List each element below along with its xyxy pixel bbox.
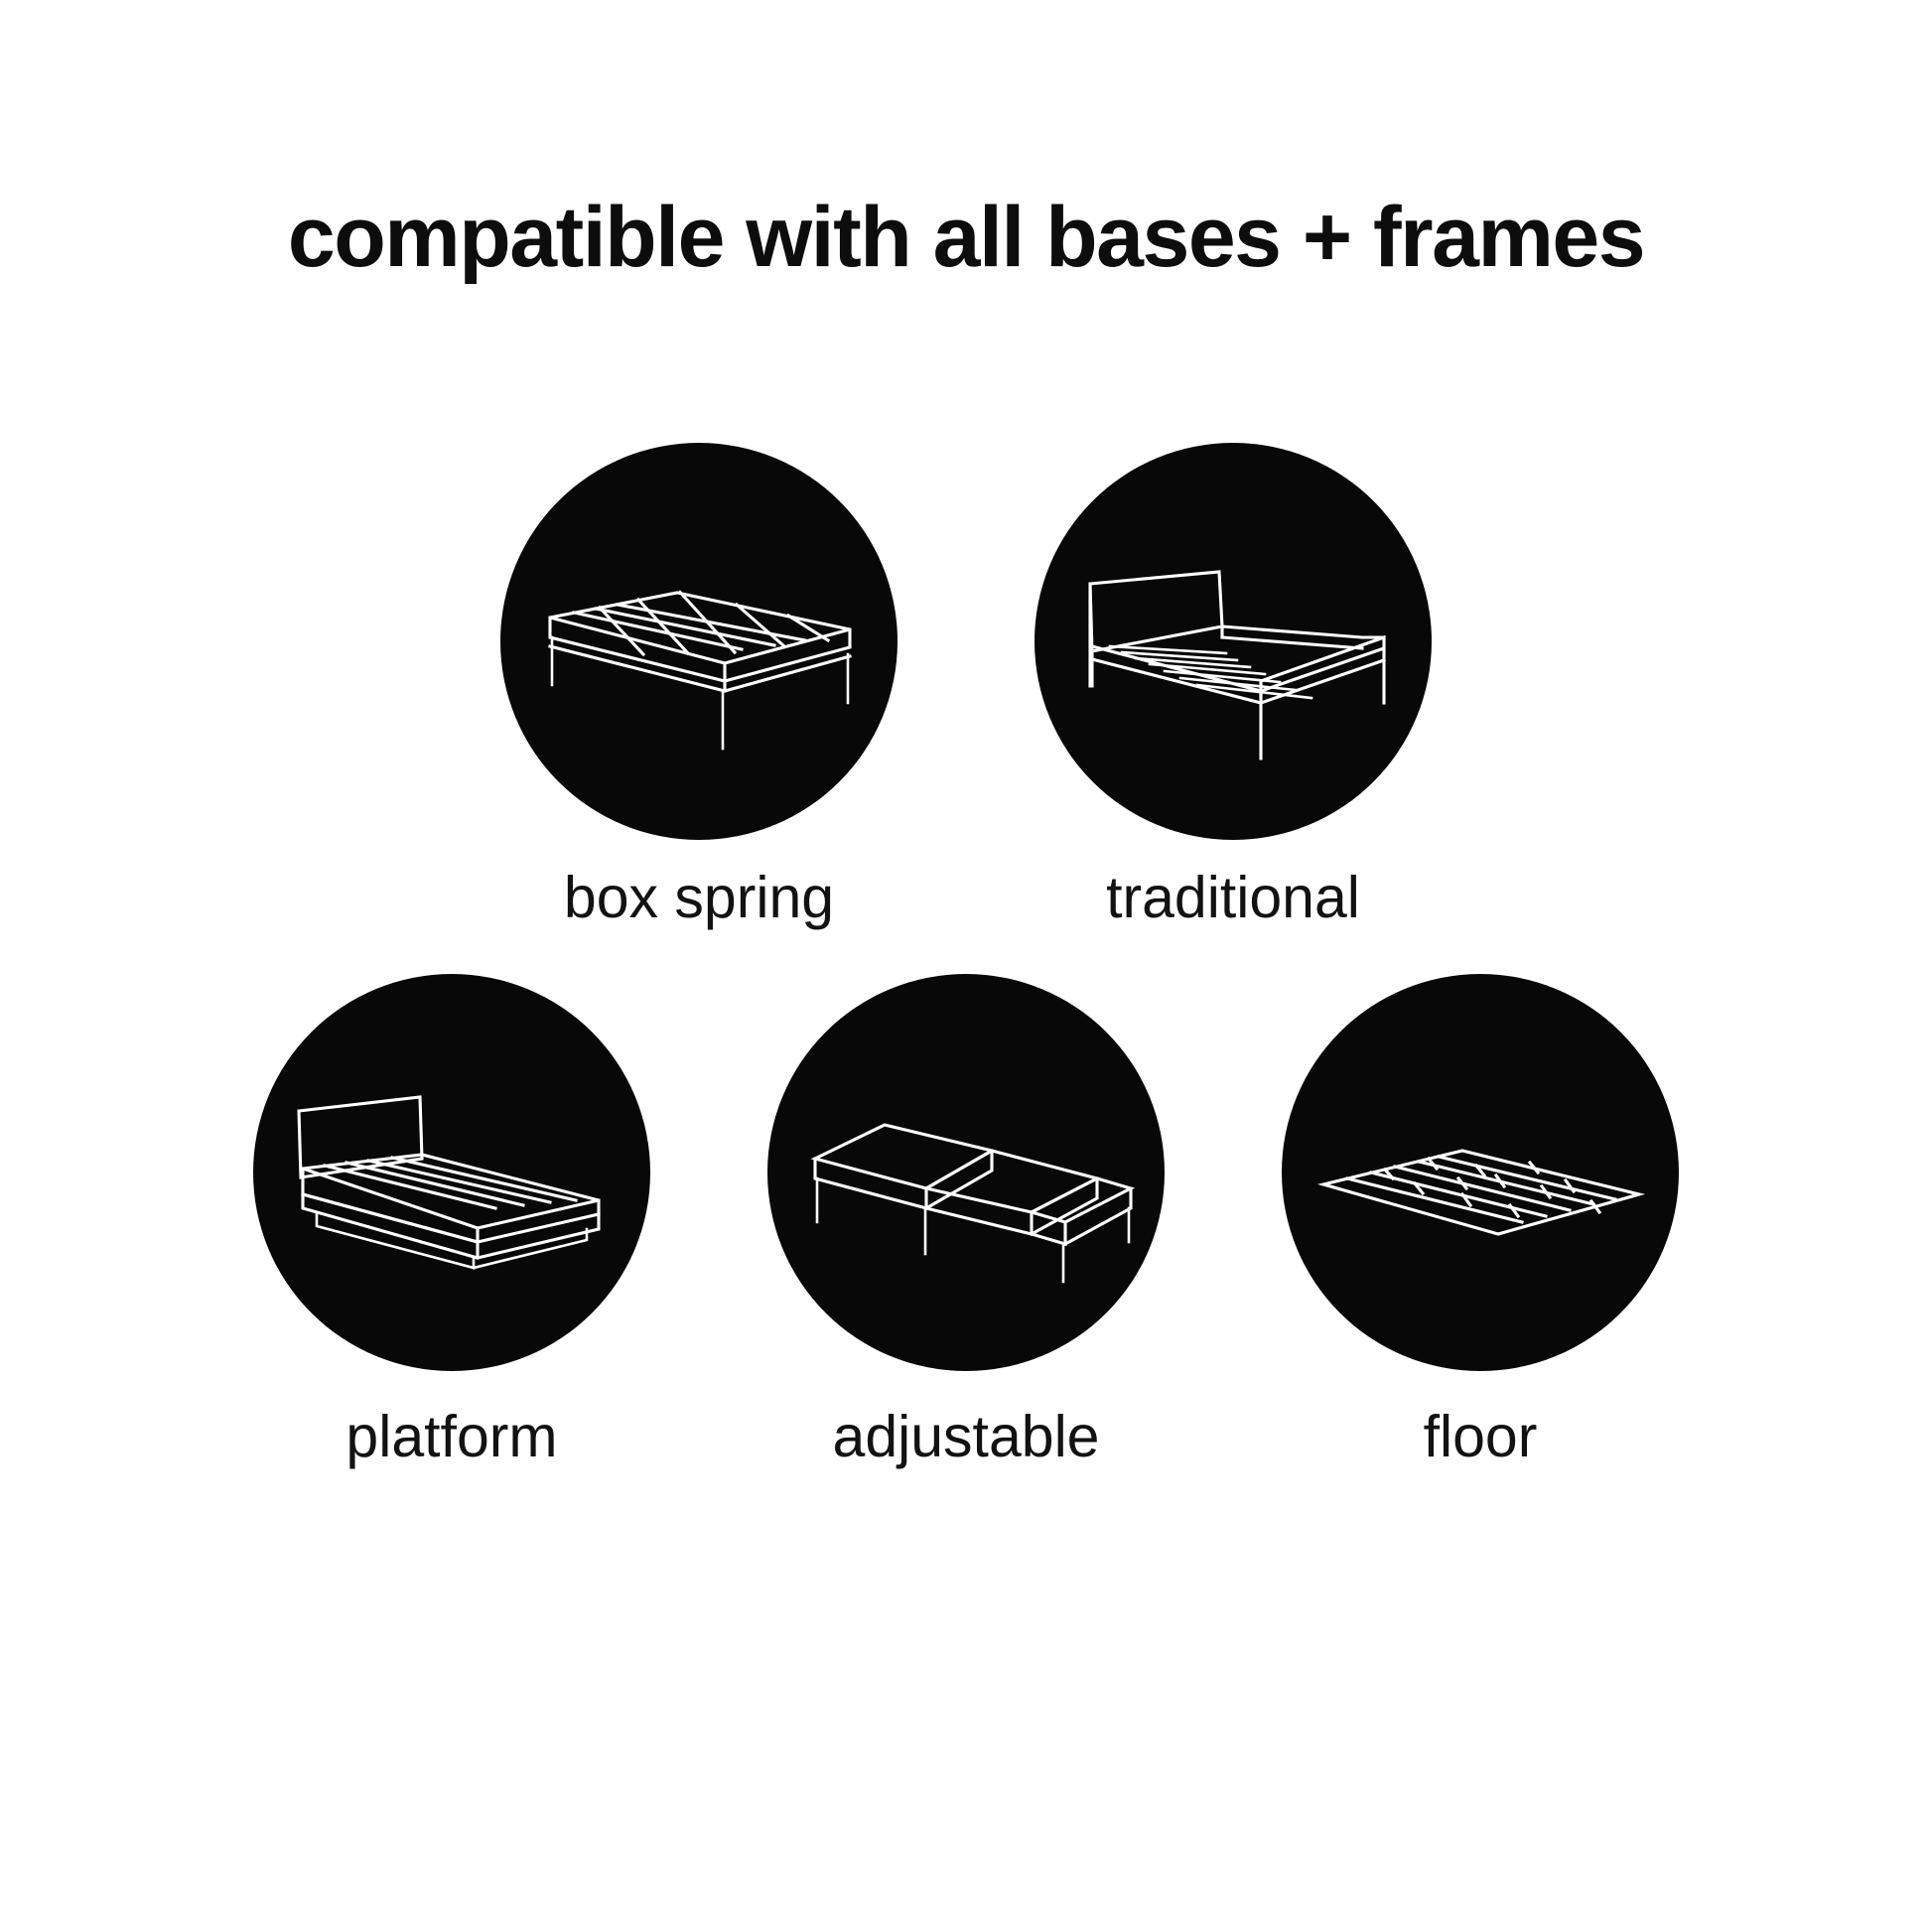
box-spring-base-icon <box>500 443 897 840</box>
compatibility-infographic: compatible with all bases + frames <box>0 0 1932 1932</box>
compatibility-item-adjustable: adjustable <box>767 974 1165 1469</box>
compatibility-item-platform: platform <box>253 974 650 1469</box>
compatibility-label-platform: platform <box>345 1405 557 1469</box>
adjustable-badge <box>767 974 1165 1371</box>
box-spring-badge <box>500 443 897 840</box>
compatibility-row-bottom: platform <box>0 974 1932 1469</box>
compatibility-label-floor: floor <box>1424 1405 1538 1469</box>
page-title: compatible with all bases + frames <box>288 195 1644 280</box>
floor-icon <box>1282 974 1679 1371</box>
traditional-badge <box>1035 443 1432 840</box>
compatibility-item-floor: floor <box>1282 974 1679 1469</box>
compatibility-item-box-spring: box spring <box>500 443 897 930</box>
floor-badge <box>1282 974 1679 1371</box>
platform-badge <box>253 974 650 1371</box>
traditional-bed-frame-icon <box>1035 443 1432 840</box>
compatibility-label-traditional: traditional <box>1106 866 1360 930</box>
compatibility-item-traditional: traditional <box>1035 443 1432 930</box>
adjustable-base-icon <box>767 974 1165 1371</box>
compatibility-label-box-spring: box spring <box>564 866 834 930</box>
compatibility-label-adjustable: adjustable <box>833 1405 1100 1469</box>
compatibility-row-top: box spring <box>0 443 1932 930</box>
platform-bed-icon <box>253 974 650 1371</box>
